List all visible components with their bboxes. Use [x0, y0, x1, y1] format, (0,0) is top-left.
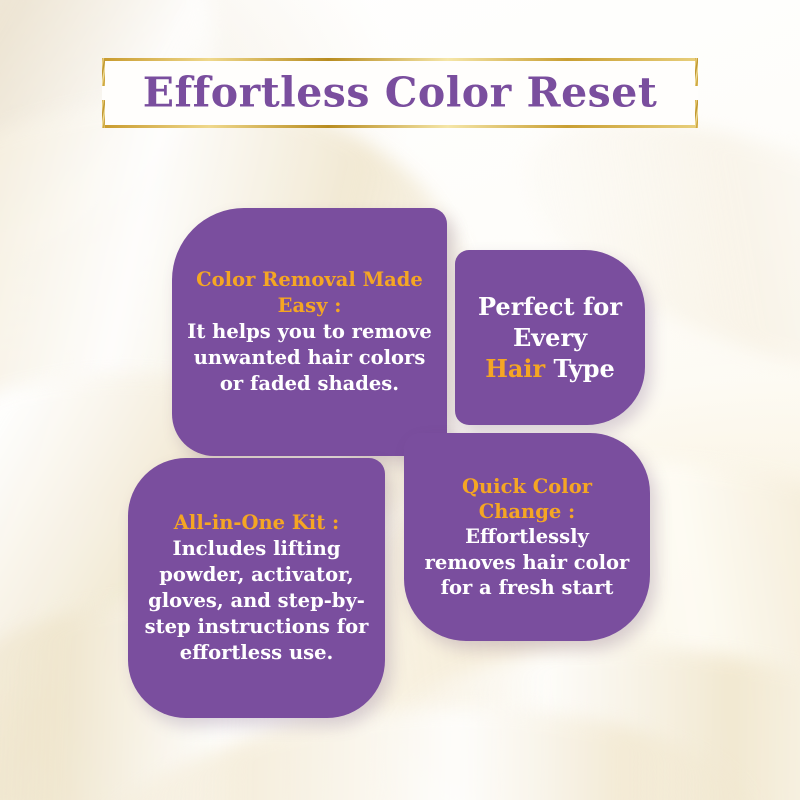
card-quick-change-content: Quick Color Change : Effortlessly remove…	[404, 474, 650, 601]
card-all-in-one: All-in-One Kit : Includes lifting powder…	[128, 458, 385, 718]
title-frame: Effortless Color Reset	[102, 58, 698, 128]
card-hair-type-content: Perfect for Every Hair Type	[455, 291, 645, 385]
card-hair-type-line-2: Every	[469, 322, 631, 353]
infographic-canvas: Effortless Color Reset Color Removal Mad…	[0, 0, 800, 800]
card-hair-type-line-3-rest: Type	[545, 354, 615, 383]
frame-border-top	[102, 58, 698, 61]
card-quick-change-heading: Quick Color Change :	[418, 474, 636, 525]
card-hair-type-line-1: Perfect for	[469, 291, 631, 322]
card-all-in-one-heading: All-in-One Kit :	[142, 510, 371, 536]
card-color-removal-body: It helps you to remove unwanted hair col…	[186, 319, 433, 397]
card-hair-type: Perfect for Every Hair Type	[455, 250, 645, 425]
card-hair-type-accent-word: Hair	[485, 354, 545, 383]
card-quick-change-body: Effortlessly removes hair color for a fr…	[418, 524, 636, 600]
card-color-removal-content: Color Removal Made Easy : It helps you t…	[172, 267, 447, 397]
card-color-removal-heading: Color Removal Made Easy :	[186, 267, 433, 319]
background-ribbon-right-lower	[368, 619, 800, 800]
card-color-removal: Color Removal Made Easy : It helps you t…	[172, 208, 447, 456]
card-all-in-one-content: All-in-One Kit : Includes lifting powder…	[128, 510, 385, 666]
frame-border-bottom	[102, 125, 698, 128]
card-quick-change: Quick Color Change : Effortlessly remove…	[404, 433, 650, 641]
card-all-in-one-body: Includes lifting powder, activator, glov…	[142, 536, 371, 666]
card-hair-type-line-3: Hair Type	[469, 353, 631, 384]
page-title: Effortless Color Reset	[102, 73, 698, 114]
